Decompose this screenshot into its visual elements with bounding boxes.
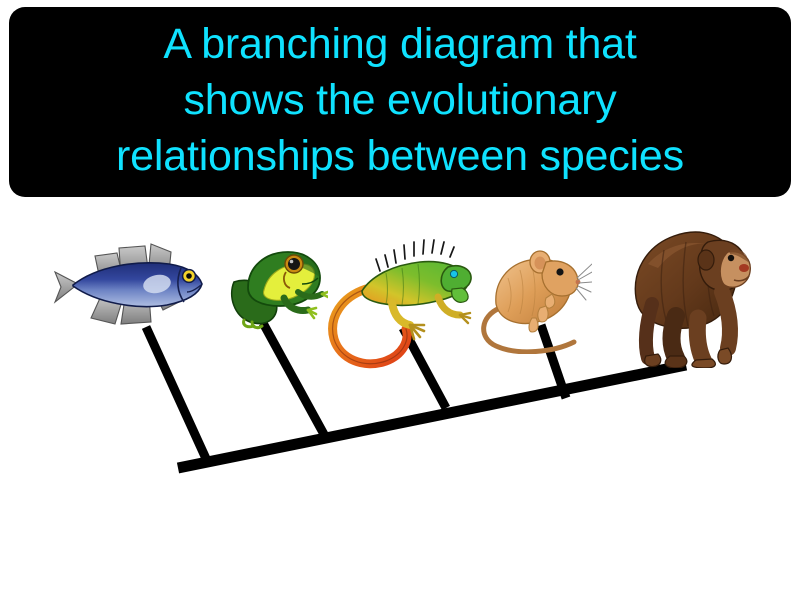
definition-card: A branching diagram that shows the evolu…: [0, 0, 800, 600]
organism-mouse: [478, 242, 592, 354]
branch-frog: [263, 323, 326, 438]
organism-frog: [228, 240, 328, 330]
title-banner: A branching diagram that shows the evolu…: [9, 7, 791, 197]
page-title: A branching diagram that shows the evolu…: [15, 16, 785, 184]
branch-fish: [146, 327, 208, 463]
organism-chimpanzee: [618, 220, 752, 368]
organism-lizard: [320, 225, 472, 373]
organism-fish: [45, 240, 207, 328]
cladogram-diagram: [0, 200, 800, 600]
